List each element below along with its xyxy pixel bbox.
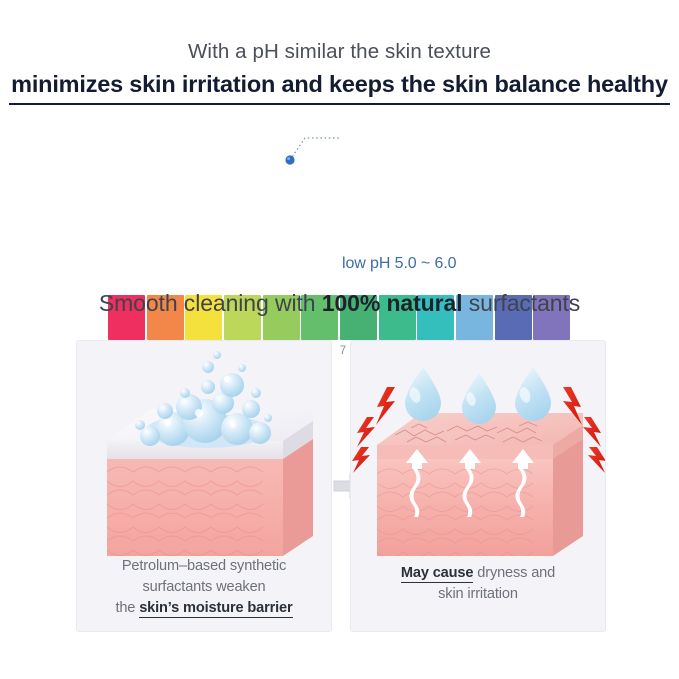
panel-dryness-irritation: May cause dryness and skin irritation [350, 340, 606, 632]
panel-right-caption: May cause dryness and skin irritation [351, 563, 605, 605]
skin-with-foam-illustration [77, 341, 332, 556]
foam-bubbles [135, 351, 272, 448]
comparison-panels: Petrolum–based synthetic surfactants wea… [0, 340, 679, 640]
subheading-before: Smooth cleaning with [99, 290, 322, 316]
damaged-skin-moisture-loss-illustration [351, 341, 606, 556]
headline-block: With a pH similar the skin texture minim… [0, 38, 679, 105]
headline-main-wrap: minimizes skin irritation and keeps the … [9, 69, 670, 105]
headline-subtitle: With a pH similar the skin texture [0, 38, 679, 66]
caption-line-3-prefix: the [115, 600, 139, 616]
subheading-emphasis: 100% natural [322, 290, 463, 316]
ph-callout-label: low pH 5.0 ~ 6.0 [342, 255, 456, 273]
water-droplets [405, 367, 551, 424]
section-subheading: Smooth cleaning with 100% natural surfac… [0, 290, 679, 317]
ph-callout-leader [0, 125, 679, 270]
panel-left-caption: Petrolum–based synthetic surfactants wea… [77, 556, 331, 619]
caption-line-1: Petrolum–based synthetic [77, 556, 331, 577]
caption-emphasis-may-cause: May cause [401, 565, 473, 583]
caption-emphasis-moisture-barrier: skin’s moisture barrier [139, 600, 292, 618]
caption-line-3: the skin’s moisture barrier [77, 598, 331, 619]
caption-line-2: skin irritation [351, 584, 605, 605]
caption-line-1-after: dryness and [473, 565, 555, 581]
panel-foam-surfactants: Petrolum–based synthetic surfactants wea… [76, 340, 332, 632]
ph-scale-section: low pH 5.0 ~ 6.0 12345678910111213 Acid … [0, 125, 679, 270]
infographic-page: With a pH similar the skin texture minim… [0, 0, 679, 679]
page-title: minimizes skin irritation and keeps the … [9, 69, 670, 103]
headline-underline [9, 103, 670, 105]
caption-line-2: surfactants weaken [77, 577, 331, 598]
caption-line-1: May cause dryness and [351, 563, 605, 584]
subheading-after: surfactants [462, 290, 580, 316]
